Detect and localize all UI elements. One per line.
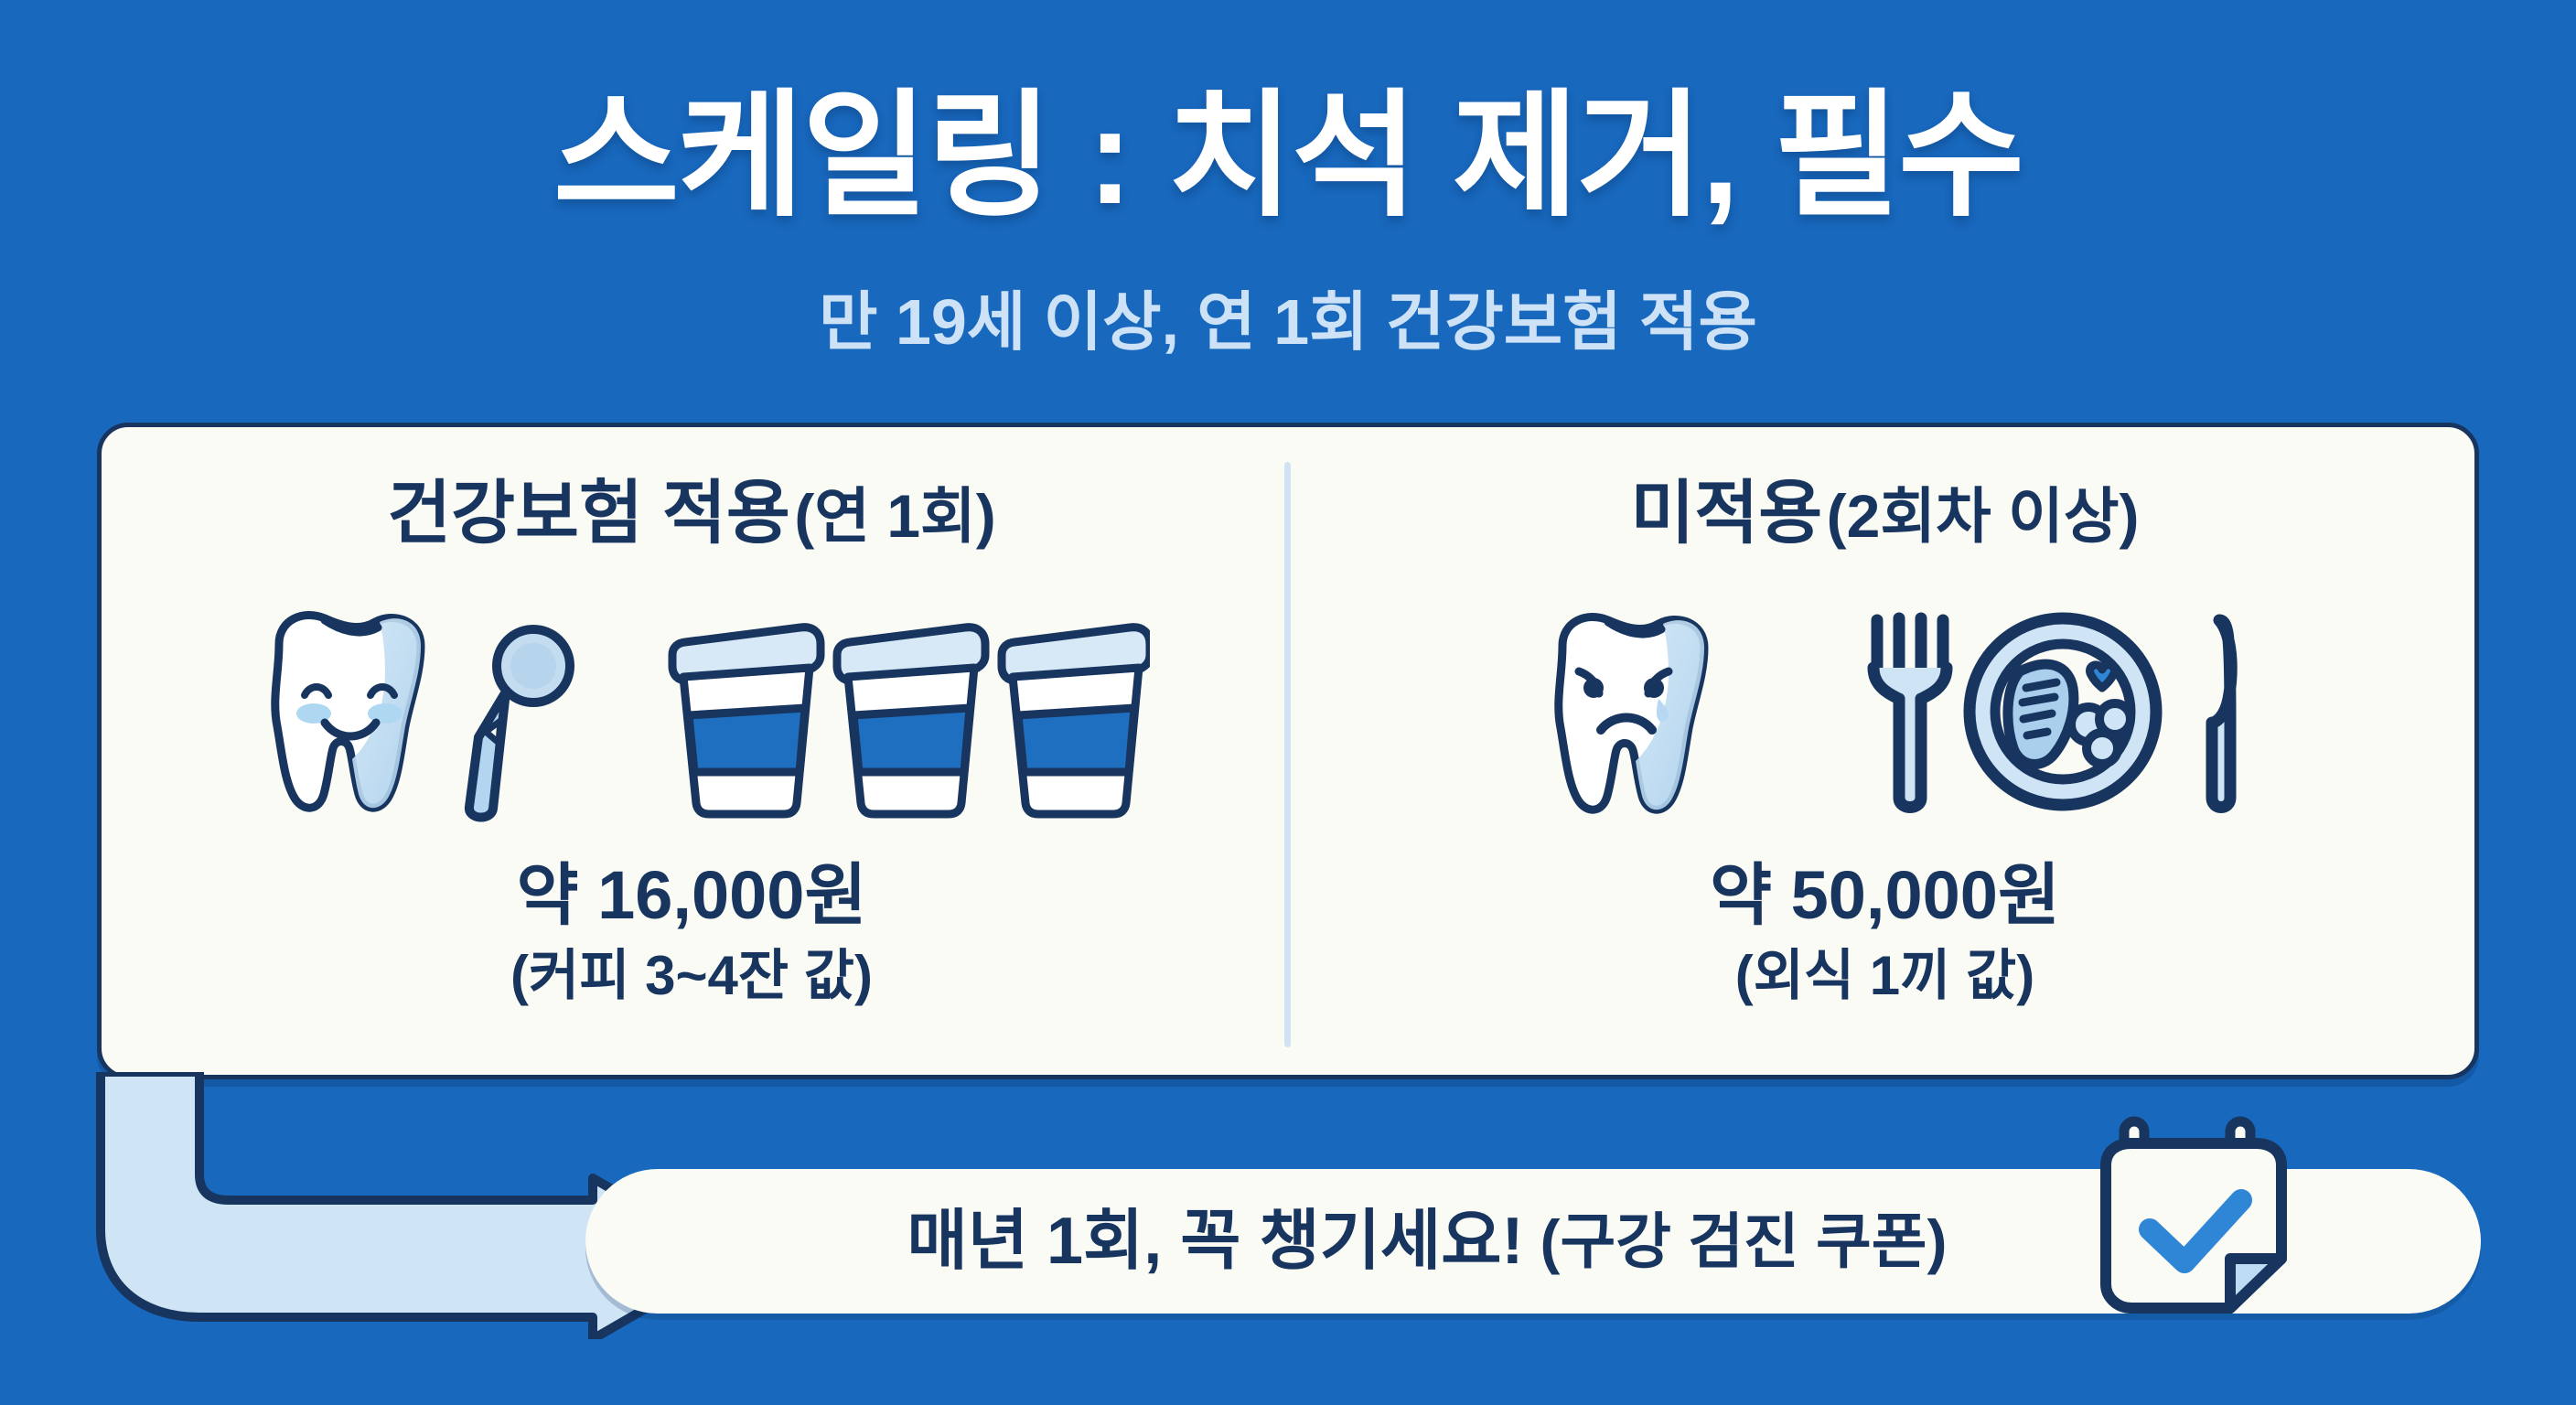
footer-banner-paren: (구강 검진 쿠폰) [1540,1211,1948,1271]
panel-covered: 건강보험 적용 (연 1회) [97,423,1286,1079]
panel-covered-title-main: 건강보험 적용 [387,475,790,552]
infographic-canvas: 스케일링 : 치석 제거, 필수 만 19세 이상, 연 1회 건강보험 적용 … [0,0,2576,1405]
coffee-cup-icon [672,627,821,814]
footer-banner-main: 매년 1회, 꼭 챙기세요! [907,1208,1524,1274]
panel-not-covered-icons [1291,604,2479,823]
fork-icon [1873,618,1947,808]
panel-not-covered: 미적용 (2회차 이상) [1291,423,2479,1079]
page-subtitle: 만 19세 이상, 연 1회 건강보험 적용 [0,284,2576,360]
calendar-check-icon [2093,1114,2294,1325]
dental-mirror-icon [469,629,570,818]
panel-covered-price: 약 16,000원 [97,862,1286,929]
panel-not-covered-title-main: 미적용 [1630,475,1822,552]
panel-covered-title: 건강보험 적용 (연 1회) [97,479,1286,549]
panel-covered-title-paren: (연 1회) [794,482,995,550]
knife-icon [2212,620,2231,808]
coffee-cup-icon [837,627,985,814]
panel-covered-price-note: (커피 3~4잔 값) [97,949,1286,1003]
happy-tooth-icon [233,604,599,823]
panel-not-covered-price: 약 50,000원 [1291,862,2479,929]
sad-tooth-icon [1520,604,1767,823]
footer-banner-text: 매년 1회, 꼭 챙기세요! (구강 검진 쿠폰) [695,1169,2159,1314]
panel-not-covered-title-paren: (2회차 이상) [1827,482,2140,550]
plate-icon [1970,618,2156,805]
page-title: 스케일링 : 치석 제거, 필수 [0,84,2576,229]
panel-covered-icons [97,604,1286,823]
coffee-cup-icon [1002,627,1150,814]
coffee-cups-group [665,604,1150,823]
dinner-plate-icon [1866,604,2250,823]
panel-not-covered-title: 미적용 (2회차 이상) [1291,479,2479,549]
panel-not-covered-price-note: (외식 1끼 값) [1291,949,2479,1003]
